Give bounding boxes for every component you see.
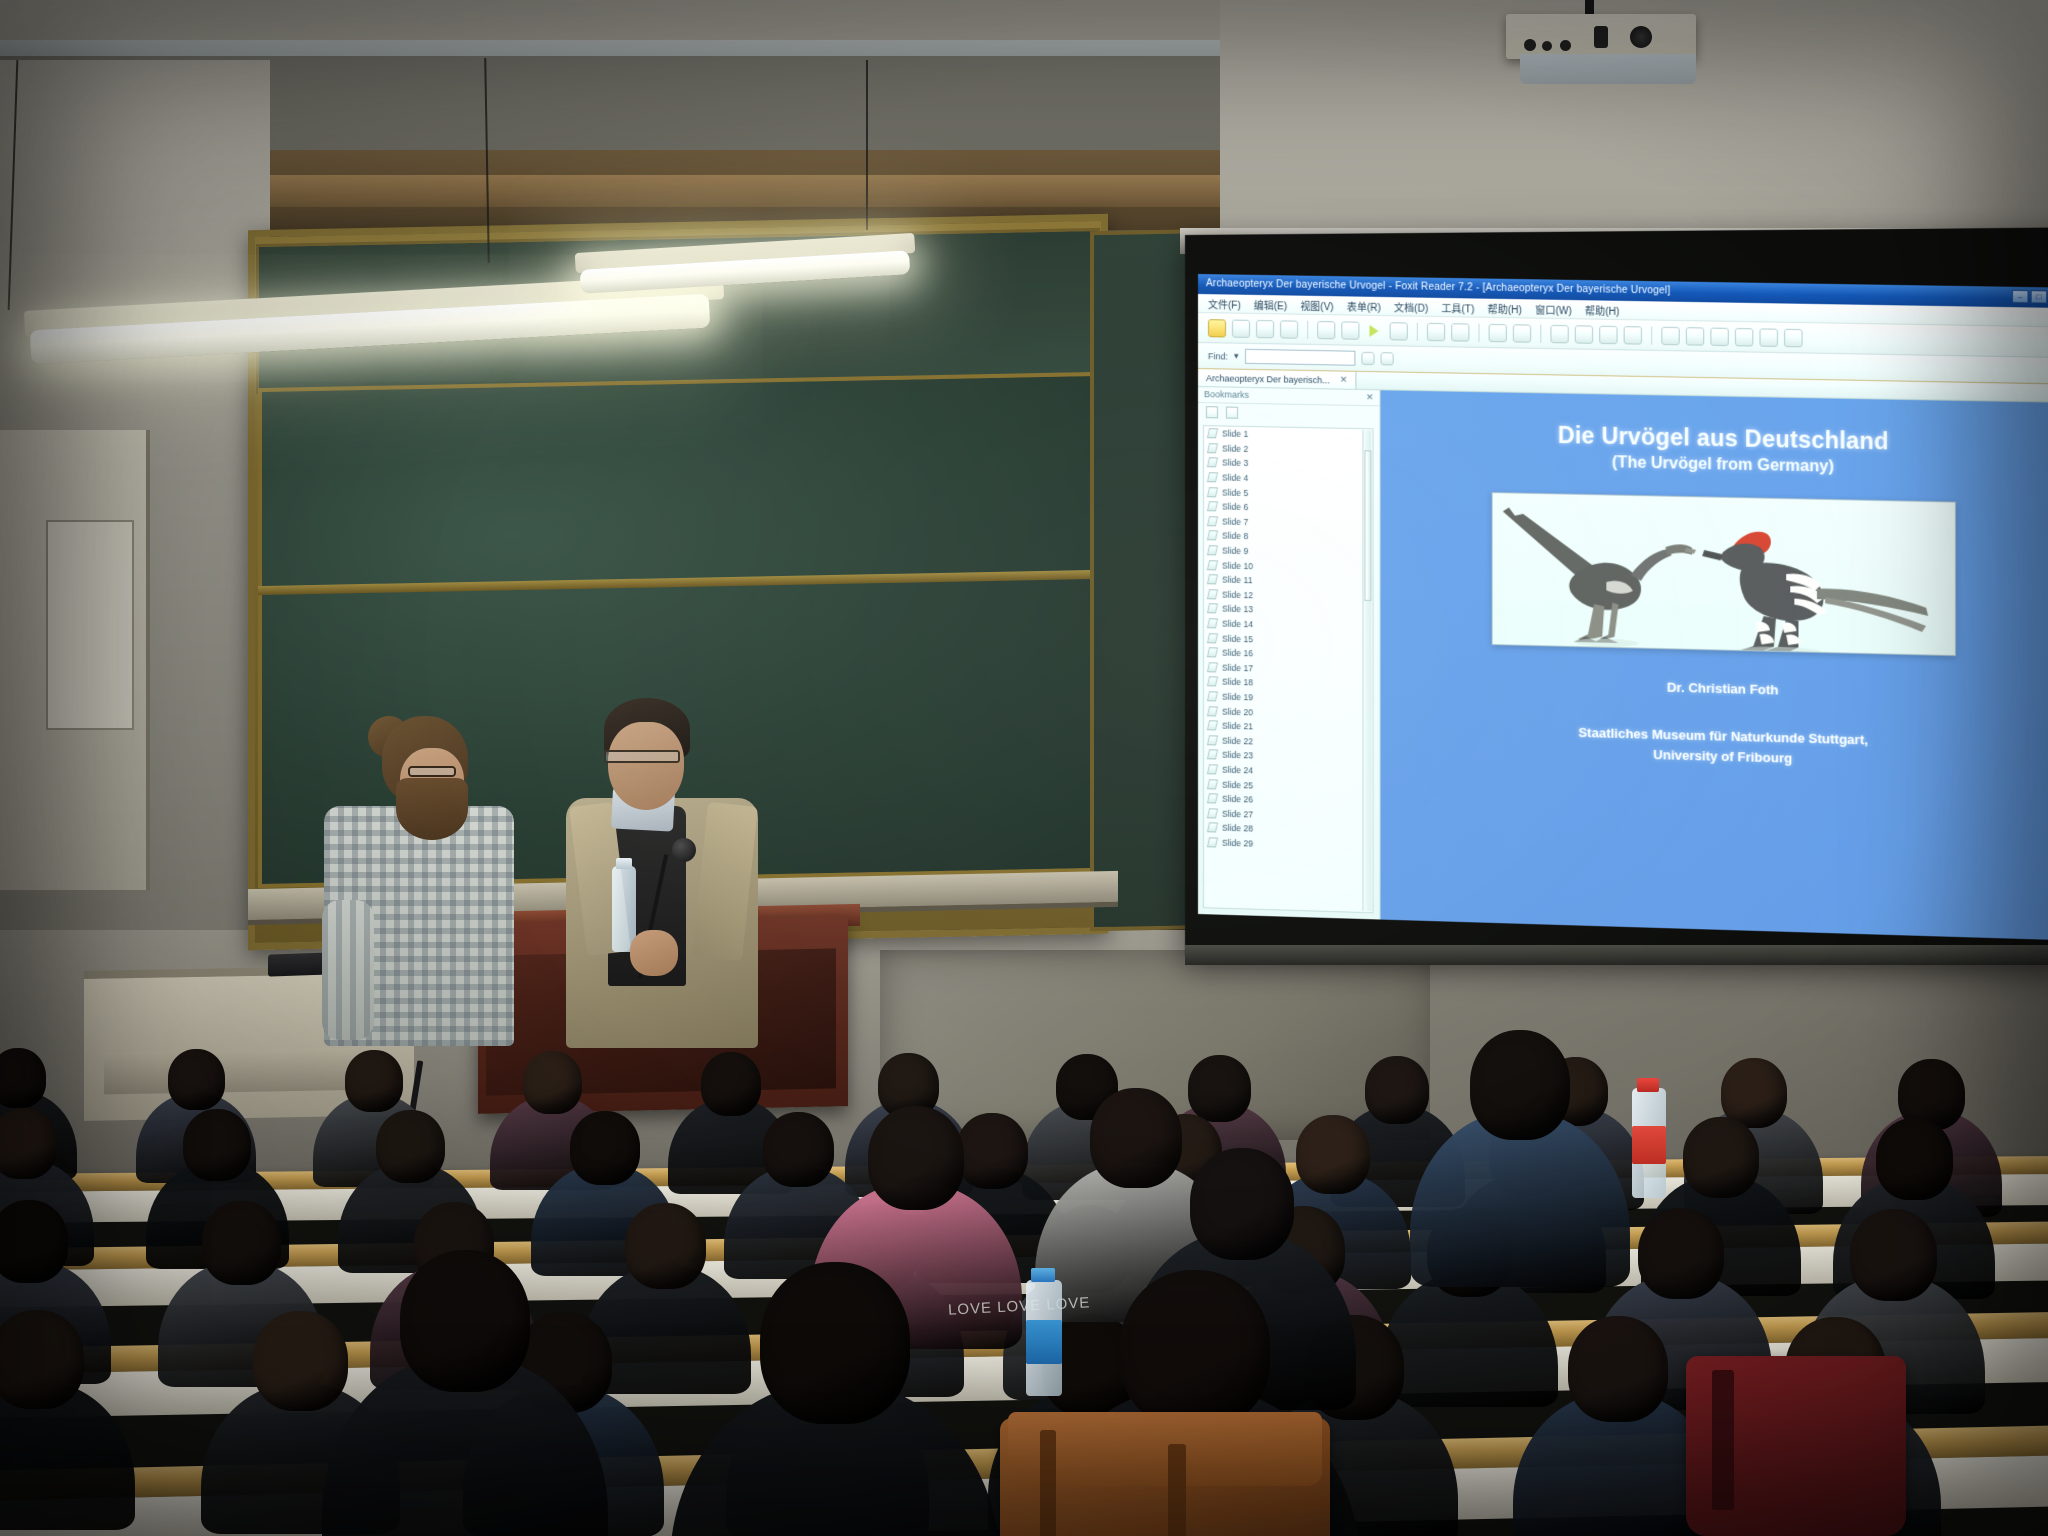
speaker-left-arm (322, 900, 374, 1040)
fit-page-icon[interactable] (1575, 325, 1593, 343)
next-page-icon[interactable] (1365, 321, 1383, 339)
bookmark-icon (1207, 501, 1218, 511)
bookmark-icon (1207, 516, 1218, 526)
bag-strap (1168, 1444, 1186, 1536)
email-icon[interactable] (1280, 320, 1298, 338)
audience-head (1876, 1118, 1953, 1200)
audience-head (0, 1108, 57, 1179)
speaker-right-glasses (604, 750, 680, 763)
lecture-hall-photo: –□✕ Archaeopteryx Der bayerische Urvogel… (0, 0, 2048, 1536)
expand-bookmarks-icon[interactable] (1206, 406, 1218, 418)
slide-subtitle: (The Urvögel from Germany) (1612, 454, 1834, 477)
audience-head (253, 1311, 348, 1411)
toolbar-separator (1540, 324, 1541, 342)
audience-head (956, 1113, 1028, 1189)
first-page-icon[interactable] (1317, 320, 1335, 338)
maximize-button[interactable]: □ (2031, 290, 2048, 304)
work-area: ✕ Bookmarks Slide 1Slide 2Slide 3Slide 4… (1198, 387, 2048, 940)
bookmark-label: Slide 11 (1222, 575, 1252, 586)
menu-item-form[interactable]: 表单(R) (1347, 298, 1381, 314)
toolbar-separator (1478, 323, 1479, 341)
bookmark-label: Slide 17 (1222, 662, 1253, 673)
audience-head (1683, 1117, 1759, 1198)
menu-item-help-2[interactable]: 帮助(H) (1585, 302, 1619, 318)
speaker-right-hand (630, 930, 678, 976)
bookmark-label: Slide 26 (1222, 794, 1253, 805)
bookmark-icon (1207, 677, 1218, 687)
light-hanging-wire (866, 60, 868, 230)
menu-item-view[interactable]: 视图(V) (1300, 297, 1333, 313)
bookmark-icon (1207, 662, 1218, 672)
bookmark-icon (1207, 604, 1218, 614)
screen-bottom-bar (1185, 945, 2048, 965)
document-tab-label: Archaeopteryx Der bayerisch... (1206, 373, 1330, 385)
menu-item-window[interactable]: 窗口(W) (1535, 301, 1572, 317)
bookmark-label: Slide 12 (1222, 589, 1253, 600)
bookmark-icon (1207, 779, 1218, 789)
audience-head (625, 1203, 706, 1289)
two-feathered-dinosaurs-illustration (1492, 492, 1956, 656)
bookmark-icon (1207, 735, 1218, 745)
bookmark-label: Slide 10 (1222, 560, 1253, 571)
audience-foreground-right (1120, 1270, 1270, 1428)
audience-foreground-center (760, 1262, 910, 1424)
bookmark-icon (1207, 691, 1218, 701)
rotate-right-icon[interactable] (1451, 323, 1469, 341)
bookmark-icon (1207, 472, 1218, 482)
bookmark-label: Slide 5 (1222, 487, 1248, 498)
highlight-icon[interactable] (1735, 327, 1753, 346)
bookmark-icon (1207, 808, 1218, 818)
bookmark-icon (1207, 429, 1218, 439)
bookmarks-scrollbar[interactable] (1362, 430, 1371, 911)
audience-head (376, 1110, 445, 1183)
bookmarks-panel-title: Bookmarks (1204, 389, 1249, 400)
bookmark-icon (1207, 823, 1218, 833)
bookmark-icon (1207, 574, 1218, 584)
audience-head (0, 1048, 46, 1108)
print-icon[interactable] (1256, 319, 1274, 337)
menu-item-help[interactable]: 帮助(H) (1488, 300, 1522, 316)
document-view[interactable]: Die Urvögel aus Deutschland (The Urvögel… (1381, 390, 2048, 940)
menu-item-tools[interactable]: 工具(T) (1441, 299, 1474, 315)
dinosaur-right-icon (1702, 531, 1928, 657)
bookmark-label: Slide 27 (1222, 808, 1253, 819)
projector-knob (1542, 41, 1552, 51)
find-input[interactable] (1245, 349, 1355, 366)
projector-knob (1560, 40, 1571, 51)
zoom-icon[interactable] (1550, 324, 1568, 342)
fit-width-icon[interactable] (1599, 325, 1617, 343)
bookmark-label: Slide 13 (1222, 604, 1253, 615)
audience-head (1568, 1316, 1668, 1422)
dinosaur-left-icon (1503, 507, 1696, 649)
audience-head (763, 1112, 834, 1187)
audience-head (0, 1200, 68, 1283)
audience-head (523, 1051, 582, 1114)
minimize-button[interactable]: – (2012, 290, 2029, 304)
projector-lens (1630, 26, 1652, 48)
door-panel (46, 520, 134, 730)
window-title-text: Archaeopteryx Der bayerische Urvogel - F… (1206, 278, 1670, 296)
find-dropdown-icon[interactable]: ▾ (1234, 351, 1239, 362)
microphone-head (672, 838, 696, 862)
bookmark-label: Slide 6 (1222, 502, 1248, 513)
backpack-strap (1712, 1370, 1734, 1510)
bag-strap (1040, 1430, 1056, 1536)
snapshot-icon[interactable] (1686, 327, 1704, 346)
bookmark-label: Slide 18 (1222, 677, 1253, 688)
audience-head (345, 1050, 403, 1112)
find-next-icon[interactable] (1380, 352, 1393, 365)
bookmark-label: Slide 15 (1222, 633, 1253, 644)
bookmark-label: Slide 2 (1222, 443, 1248, 454)
redo-icon[interactable] (1513, 324, 1531, 342)
bookmark-icon (1207, 706, 1218, 716)
attachment-icon[interactable] (1784, 328, 1802, 347)
audience-head (1850, 1209, 1937, 1301)
audience-head (168, 1049, 225, 1110)
projector-vent (1594, 26, 1608, 48)
bookmark-label: Slide 22 (1222, 735, 1253, 746)
audience-head (202, 1201, 281, 1285)
bookmark-icon (1207, 750, 1218, 760)
find-previous-icon[interactable] (1361, 352, 1374, 365)
projector-knob (1524, 39, 1536, 51)
bookmark-icon (1207, 560, 1218, 570)
hand-tool-icon[interactable] (1661, 326, 1679, 345)
bookmark-label: Slide 24 (1222, 765, 1253, 776)
close-icon[interactable]: ✕ (1366, 392, 1374, 403)
audience-pink-jacket (868, 1106, 964, 1210)
toolbar-separator (1651, 326, 1652, 344)
side-desk-drawer (104, 1048, 374, 1095)
save-icon[interactable] (1232, 319, 1250, 337)
typewriter-icon[interactable] (1710, 327, 1728, 346)
bookmark-icon (1207, 633, 1218, 643)
bottle-cap (1637, 1078, 1659, 1092)
bookmark-label: Slide 3 (1222, 458, 1248, 469)
audience-head (1296, 1115, 1370, 1194)
bookmark-icon (1207, 618, 1218, 628)
bookmark-icon (1207, 720, 1218, 730)
select-text-icon[interactable] (1624, 326, 1642, 344)
bookmark-icon (1207, 647, 1218, 657)
bookmark-icon (1207, 531, 1218, 541)
bookmark-label: Slide 7 (1222, 516, 1248, 527)
bookmark-label: Slide 14 (1222, 619, 1253, 630)
refresh-bookmarks-icon[interactable] (1226, 407, 1238, 419)
bookmark-label: Slide 19 (1222, 692, 1253, 703)
bottle-cap (1031, 1268, 1055, 1282)
close-icon[interactable]: ✕ (1340, 375, 1348, 386)
speaker-left-glasses (408, 766, 456, 777)
menu-item-file[interactable]: 文件(F) (1208, 296, 1241, 312)
ceiling-projector (1506, 14, 1696, 59)
bookmark-icon (1207, 837, 1218, 847)
audience-dark-center (1190, 1148, 1294, 1260)
bookmark-label: Slide 21 (1222, 721, 1253, 732)
bookmark-label: Slide 28 (1222, 823, 1253, 834)
audience-head (1188, 1055, 1251, 1122)
bookmark-label: Slide 20 (1222, 706, 1253, 717)
presentation-slide: Die Urvögel aus Deutschland (The Urvögel… (1381, 390, 2048, 940)
bookmark-label: Slide 16 (1222, 648, 1253, 659)
bottle-cap (616, 858, 632, 869)
slide-author: Dr. Christian Foth (1667, 680, 1779, 698)
bookmarks-panel[interactable]: ✕ Bookmarks Slide 1Slide 2Slide 3Slide 4… (1198, 387, 1381, 920)
bookmark-icon (1207, 487, 1218, 497)
audience-head (1365, 1056, 1429, 1124)
speaker-right-face (608, 722, 684, 810)
audience-foreground-left (400, 1250, 530, 1392)
bookmark-label: Slide 8 (1222, 531, 1248, 542)
rotate-left-icon[interactable] (1427, 322, 1445, 340)
bookmark-icon (1207, 545, 1218, 555)
bookmark-label: Slide 4 (1222, 473, 1248, 484)
audience-head (0, 1310, 84, 1409)
bottle-label (1632, 1126, 1666, 1164)
bookmark-icon (1207, 458, 1218, 468)
audience-head (701, 1052, 761, 1116)
previous-page-icon[interactable] (1341, 321, 1359, 339)
speaker-left-beard (396, 778, 468, 840)
bookmark-list[interactable]: Slide 1Slide 2Slide 3Slide 4Slide 5Slide… (1203, 425, 1374, 913)
stamp-icon[interactable] (1759, 328, 1777, 347)
scrollbar-thumb[interactable] (1364, 450, 1371, 601)
bookmark-label: Slide 29 (1222, 838, 1253, 849)
menu-item-document[interactable]: 文档(D) (1394, 299, 1428, 315)
audience-head (183, 1109, 251, 1181)
projector-base (1520, 54, 1696, 84)
document-tab[interactable]: Archaeopteryx Der bayerisch... ✕ (1198, 369, 1357, 389)
open-folder-icon[interactable] (1208, 319, 1226, 337)
dinosaur-illustration-svg (1493, 493, 1956, 656)
bookmark-icon (1207, 793, 1218, 803)
bookmark-icon (1207, 764, 1218, 774)
pdf-reader-window[interactable]: –□✕ Archaeopteryx Der bayerische Urvogel… (1198, 274, 2048, 940)
menu-item-edit[interactable]: 编辑(E) (1254, 296, 1287, 312)
bookmark-label: Slide 25 (1222, 779, 1253, 790)
audience-head (1638, 1208, 1724, 1299)
bookmark-label: Slide 1 (1222, 429, 1248, 440)
last-page-icon[interactable] (1390, 322, 1408, 340)
bottle-label (1026, 1320, 1062, 1364)
toolbar-separator (1307, 320, 1308, 338)
undo-icon[interactable] (1489, 323, 1507, 341)
find-label: Find: (1208, 351, 1228, 361)
audience-grey-hoodie (1090, 1088, 1182, 1188)
bookmark-label: Slide 9 (1222, 546, 1248, 557)
audience-head (570, 1111, 640, 1185)
audience-blue-shirt (1470, 1030, 1570, 1140)
bookmark-icon (1207, 589, 1218, 599)
bookmark-label: Slide 23 (1222, 750, 1253, 761)
bookmark-icon (1207, 443, 1218, 453)
slide-affiliation: Staatliches Museum für Naturkunde Stuttg… (1578, 723, 1868, 771)
window-controls[interactable]: –□✕ (2010, 287, 2048, 308)
slide-title: Die Urvögel aus Deutschland (1558, 422, 1889, 456)
bookmarks-toolbar[interactable] (1198, 403, 1380, 424)
toolbar-separator (1417, 322, 1418, 340)
